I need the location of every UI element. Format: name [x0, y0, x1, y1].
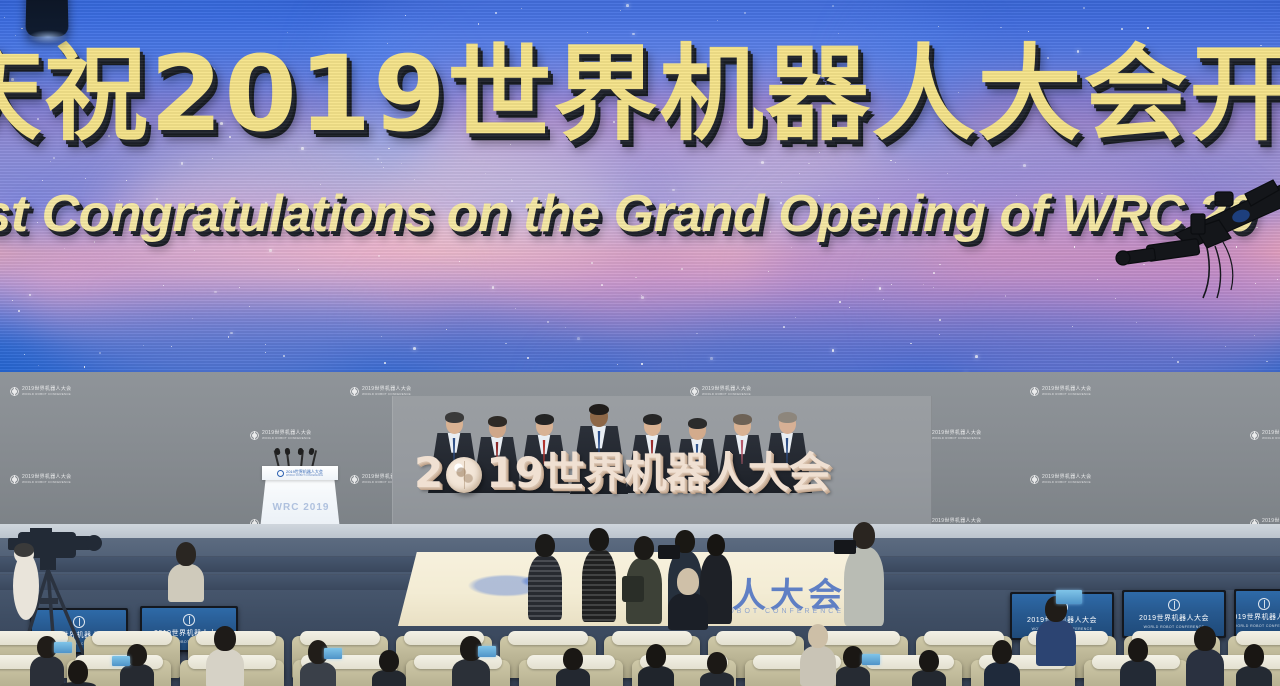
star-particle	[12, 300, 13, 301]
backdrop-logo-en: WORLD ROBOT CONFERENCE	[22, 392, 71, 396]
audience-member-14	[1036, 596, 1076, 666]
audience-torso	[800, 646, 836, 686]
audience-member-8	[638, 644, 674, 686]
audience-torso	[984, 662, 1020, 686]
audience-head	[176, 542, 196, 566]
backdrop-wrc-logo: 2019世界机器人大会WORLD ROBOT CONFERENCE	[1030, 474, 1091, 484]
dignitary-hair	[778, 412, 797, 423]
audience-head	[214, 626, 235, 651]
sign-char-2: 2	[414, 452, 442, 494]
audience-torso	[836, 666, 870, 686]
audience-head	[707, 652, 726, 674]
sign-chars-rest: 19世界机器人大会	[486, 452, 829, 494]
dignitary-hair	[733, 414, 752, 425]
audience-torso	[912, 670, 946, 686]
photographer-head	[535, 534, 554, 557]
seat-headrest-cover	[1236, 631, 1280, 645]
photographer-head	[589, 528, 608, 551]
conference-opening-ceremony-photo: 庆祝2019世界机器人大会开幕 est Congratulations on t…	[0, 0, 1280, 686]
photographer-7	[844, 522, 884, 626]
seat-headrest-cover	[716, 631, 797, 645]
audience-torso	[120, 664, 154, 686]
audience-member-18	[30, 636, 64, 686]
photographer-2	[582, 528, 616, 622]
audience-torso	[452, 659, 490, 686]
smartphone-screen-icon	[324, 648, 342, 659]
audience-torso	[372, 670, 406, 686]
wrc-logo-mark-icon	[10, 387, 19, 396]
wrc-logo-graphic-icon	[446, 564, 596, 612]
backdrop-logo-en: WORLD ROBOT CONFERENCE	[1262, 436, 1280, 440]
wrc-logo-mark-icon	[250, 431, 259, 440]
photographer-head	[853, 522, 875, 549]
audience-head	[808, 624, 828, 648]
audience-head	[127, 644, 146, 666]
audience-torso	[300, 662, 336, 686]
audience-torso	[1036, 620, 1076, 666]
seat-back-monitor[interactable]: 2019世界机器人大会WORLD ROBOT CONFERENCE	[1234, 589, 1280, 637]
smartphone-screen-icon	[54, 642, 72, 653]
audience-member-2	[206, 626, 244, 686]
photographer-head	[634, 536, 654, 560]
backdrop-wrc-logo: 2019世界机器人大会WORLD ROBOT CONFERENCE	[690, 386, 751, 396]
audience-head	[919, 650, 938, 672]
dignitary-hair	[445, 412, 464, 423]
audience-member-4	[300, 640, 336, 686]
photographer-torso	[528, 555, 562, 620]
audience-member-17	[1236, 644, 1272, 686]
dignitary-hair	[535, 414, 554, 425]
wrc-logo-mark-icon	[350, 475, 359, 484]
stage-3d-sign: 2 19世界机器人大会	[414, 452, 830, 494]
backdrop-wrc-logo: 2019世界机器人大会WORLD ROBOT CONFERENCE	[1030, 386, 1091, 396]
monitor-text-en: WORLD ROBOT CONFERENCE	[1236, 624, 1280, 628]
backdrop-wrc-logo: 2019世界机器人大会WORLD ROBOT CONFERENCE	[10, 474, 71, 484]
photographer-3	[626, 536, 662, 624]
podium-plate-en: WORLD ROBOT CONFERENCE	[286, 474, 323, 477]
audience-head	[1244, 644, 1264, 668]
monitor-text-cn: 2019世界机器人大会	[1236, 612, 1280, 622]
podium-front-text: WRC 2019	[266, 502, 336, 513]
monitor-text-cn: 2019世界机器人大会	[1139, 613, 1209, 623]
dignitary-hair	[589, 404, 609, 415]
audience-head	[68, 660, 88, 684]
photographer-head	[677, 568, 699, 595]
audience-member-19	[60, 660, 96, 686]
wrc-logo-mark-icon	[1258, 598, 1270, 610]
podium-name-plate: 2019世界机器人大会 WORLD ROBOT CONFERENCE	[262, 466, 338, 480]
audience-torso	[1236, 666, 1272, 686]
backdrop-wrc-logo: 2019世界机器人大会WORLD ROBOT CONFERENCE	[250, 430, 311, 440]
photographer-torso	[844, 547, 884, 626]
audience-torso	[700, 672, 734, 686]
smartphone-screen-icon	[112, 656, 130, 666]
audience-torso	[168, 564, 204, 602]
audience-torso	[638, 666, 674, 686]
main-led-backdrop-screen: 庆祝2019世界机器人大会开幕 est Congratulations on t…	[0, 0, 1280, 372]
audience-head	[843, 646, 862, 668]
dignitary-hair	[688, 418, 707, 429]
backdrop-wrc-logo: 2019世界机器人大会WORLD ROBOT CONFERENCE	[1250, 430, 1280, 440]
led-headline-chinese: 庆祝2019世界机器人大会开幕	[0, 42, 1280, 146]
audience-torso	[1120, 660, 1156, 686]
backdrop-logo-en: WORLD ROBOT CONFERENCE	[22, 480, 71, 484]
wrc-logo-mark-icon	[690, 387, 699, 396]
wrc-logo-mark-icon	[1250, 431, 1259, 440]
audience-head	[1128, 638, 1148, 662]
smartphone-screen-icon	[478, 646, 496, 657]
backdrop-logo-en: WORLD ROBOT CONFERENCE	[1042, 392, 1091, 396]
seat-headrest-cover	[92, 631, 173, 645]
handheld-camera-icon	[834, 540, 856, 554]
audience-head	[379, 650, 398, 672]
audience-member-16	[1186, 626, 1224, 686]
star-particle	[18, 310, 20, 312]
backdrop-logo-en: WORLD ROBOT CONFERENCE	[1042, 480, 1091, 484]
audience-head	[1194, 626, 1215, 651]
dignitary-hair	[643, 414, 662, 425]
photographer-6	[668, 568, 708, 630]
audience-member-13	[984, 640, 1020, 686]
wrc-logo-mark-icon	[277, 470, 284, 477]
backdrop-logo-en: WORLD ROBOT CONFERENCE	[932, 436, 981, 440]
audience-torso	[556, 668, 590, 686]
photographer-torso	[582, 549, 616, 622]
wrc-logo-mark-icon	[1168, 599, 1180, 611]
photographer-1	[528, 534, 562, 620]
microphone-head-icon	[285, 448, 291, 456]
wrc-logo-mark-icon	[10, 475, 19, 484]
dignitary-hair	[488, 416, 507, 427]
camera-bag	[622, 576, 644, 602]
backdrop-logo-en: WORLD ROBOT CONFERENCE	[262, 436, 311, 440]
audience-member-3	[168, 542, 204, 602]
backdrop-wrc-logo: 2019世界机器人大会WORLD ROBOT CONFERENCE	[10, 386, 71, 396]
wrc-logo-mark-icon	[183, 614, 195, 626]
audience-member-15	[1120, 638, 1156, 686]
audience-member-10	[800, 624, 836, 686]
audience-member-9	[700, 652, 734, 686]
handheld-camera-icon	[658, 545, 680, 559]
smartphone-screen-icon	[1056, 590, 1082, 604]
audience-head	[563, 648, 582, 670]
stage-light-glow	[28, 30, 68, 44]
photographer-torso	[668, 593, 708, 630]
globe-icon	[446, 457, 482, 493]
microphone-head-icon	[274, 447, 281, 455]
wrc-logo-mark-icon	[1030, 475, 1039, 484]
seat-headrest-cover	[508, 631, 589, 645]
audience-torso	[1186, 649, 1224, 686]
audience-head	[646, 644, 666, 668]
audience-member-11	[836, 646, 870, 686]
smartphone-screen-icon	[862, 654, 880, 665]
audience-head	[992, 640, 1012, 664]
audience-member-7	[556, 648, 590, 686]
monitor-screen: 2019世界机器人大会WORLD ROBOT CONFERENCE	[1236, 591, 1280, 635]
audience-torso	[206, 649, 244, 686]
wrc-logo-mark-icon	[350, 387, 359, 396]
audience-member-6	[452, 636, 490, 686]
audience-member-12	[912, 650, 946, 686]
jib-crane-camera-icon	[1095, 176, 1280, 326]
wrc-logo-mark-icon	[1030, 387, 1039, 396]
photographer-head	[707, 534, 725, 556]
audience-torso	[30, 656, 64, 686]
backdrop-wrc-logo: 2019世界机器人大会WORLD ROBOT CONFERENCE	[350, 386, 411, 396]
audience-member-1	[120, 644, 154, 686]
seat-headrest-cover	[612, 631, 693, 645]
led-headline-english: est Congratulations on the Grand Opening…	[0, 188, 1280, 240]
audience-member-5	[372, 650, 406, 686]
